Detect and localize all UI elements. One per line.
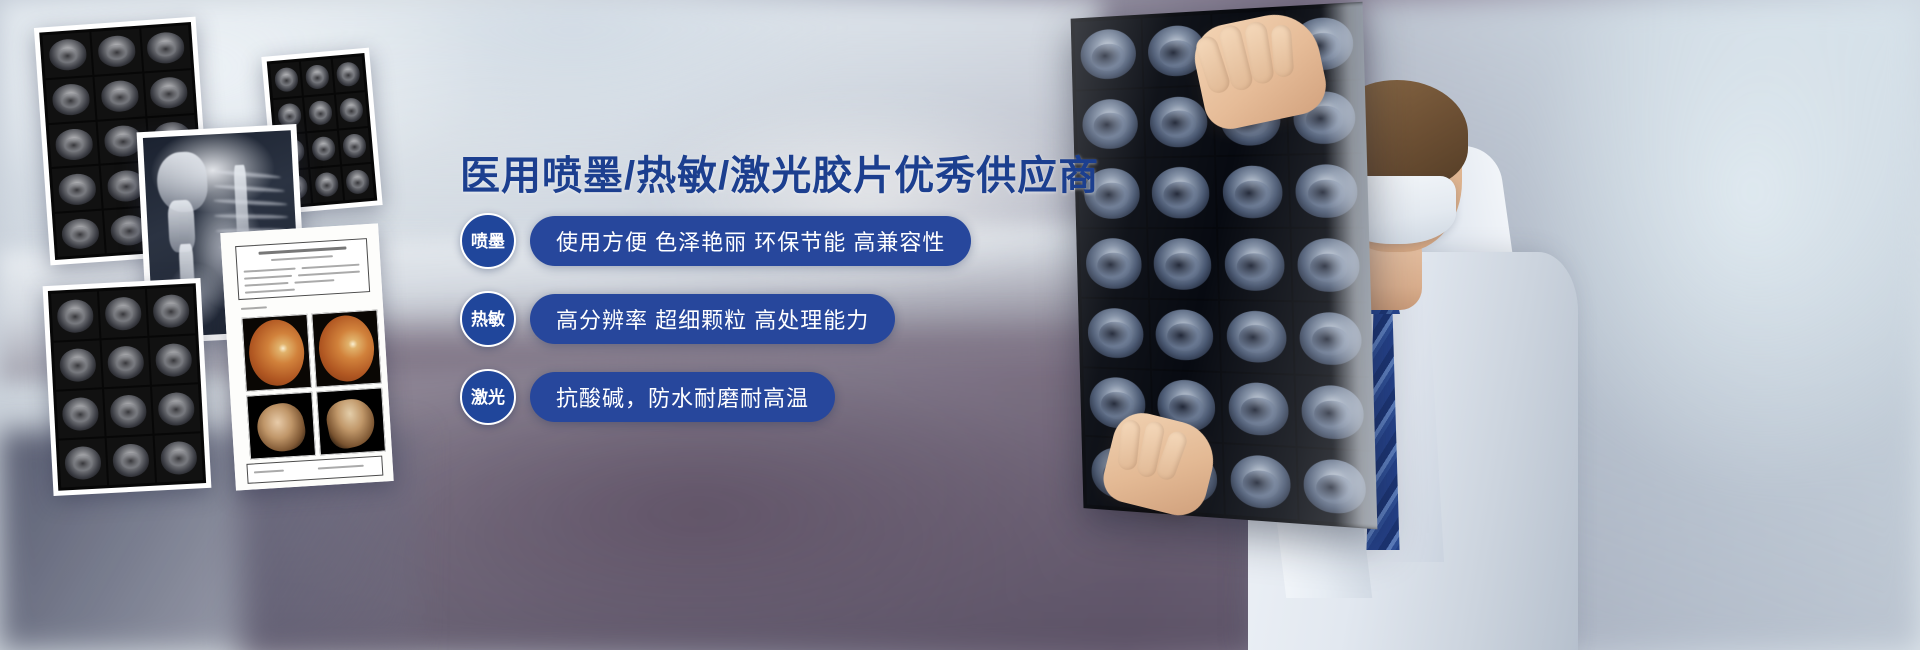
feature-badge-inkjet: 喷墨 — [460, 213, 516, 269]
ultrasound-photo-left — [246, 392, 316, 460]
feature-pill-thermal: 高分辨率 超细颗粒 高处理能力 — [530, 294, 895, 344]
feature-row-laser: 激光 抗酸碱，防水耐磨耐高温 — [460, 369, 835, 425]
feature-badge-thermal: 热敏 — [460, 291, 516, 347]
page-title: 医用喷墨/热敏/激光胶片优秀供应商 — [460, 143, 1099, 201]
hero-banner: 医用喷墨/热敏/激光胶片优秀供应商 喷墨 使用方便 色泽艳丽 环保节能 高兼容性… — [0, 0, 1920, 650]
report-footer-box — [246, 456, 383, 484]
mri-brain-film-large — [43, 278, 212, 496]
feature-badge-laser: 激光 — [460, 369, 516, 425]
medical-report-sheet — [220, 223, 393, 490]
fundus-photo-right — [311, 310, 381, 388]
doctor-illustration — [1030, 0, 1590, 650]
feature-row-inkjet: 喷墨 使用方便 色泽艳丽 环保节能 高兼容性 — [460, 213, 971, 269]
report-section-label — [241, 306, 267, 309]
feature-pill-inkjet: 使用方便 色泽艳丽 环保节能 高兼容性 — [530, 216, 971, 266]
ultrasound-photo-right — [316, 387, 386, 455]
medical-film-collage — [0, 0, 420, 650]
report-header-box — [235, 238, 370, 300]
fundus-photo-left — [241, 314, 311, 392]
feature-pill-laser: 抗酸碱，防水耐磨耐高温 — [530, 372, 835, 422]
feature-row-thermal: 热敏 高分辨率 超细颗粒 高处理能力 — [460, 291, 895, 347]
banner-content: 医用喷墨/热敏/激光胶片优秀供应商 喷墨 使用方便 色泽艳丽 环保节能 高兼容性… — [455, 0, 1075, 650]
